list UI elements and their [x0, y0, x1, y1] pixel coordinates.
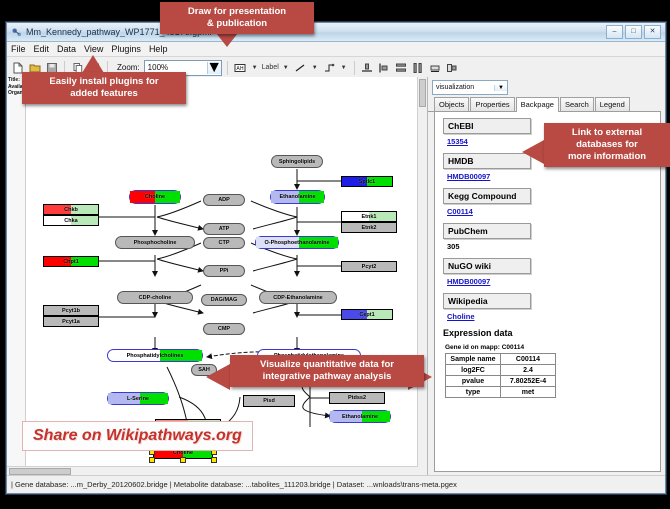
gene-node[interactable]: Chkb: [43, 204, 99, 215]
gene-node[interactable]: Chka: [43, 215, 99, 226]
chevron-down-icon[interactable]: ▼: [341, 65, 347, 71]
table-cell: met: [501, 387, 556, 398]
database-header-wikipedia: Wikipedia: [443, 293, 531, 309]
metabolite-node[interactable]: Sphingolipids: [271, 155, 323, 168]
metabolite-node[interactable]: ADP: [203, 194, 245, 206]
table-cell: log2FC: [446, 365, 501, 376]
metabolite-node[interactable]: Phosphocholine: [115, 236, 195, 249]
label-tool-icon[interactable]: Label: [262, 64, 279, 71]
database-header-hmdb: HMDB: [443, 153, 531, 169]
metabolite-node[interactable]: Phosphatidylcholines: [107, 349, 203, 362]
callout-arrow-left: [522, 140, 544, 164]
statusbar: | Gene database: ...m_Derby_20120602.bri…: [7, 475, 665, 493]
metabolite-node[interactable]: Choline: [129, 190, 181, 204]
metabolite-node[interactable]: L-Serine: [107, 392, 169, 405]
gene-node[interactable]: Chpt1: [43, 256, 99, 267]
callout-link-external-databases: Link to external databases for more info…: [544, 123, 670, 167]
tab-legend[interactable]: Legend: [595, 97, 630, 111]
app-icon: [11, 27, 22, 38]
chevron-down-icon[interactable]: ▼: [494, 85, 507, 91]
database-header-chebi: ChEBI: [443, 118, 531, 134]
connector-tool-icon[interactable]: [322, 60, 337, 75]
align-bottom-icon[interactable]: [360, 60, 375, 75]
share-label: Share on Wikipathways.org: [33, 427, 242, 444]
resize-handle[interactable]: [211, 457, 217, 463]
share-wikipathways-banner: Share on Wikipathways.org: [22, 421, 253, 451]
expression-data-heading: Expression data: [443, 328, 660, 338]
resize-handle[interactable]: [180, 457, 186, 463]
database-link-wikipedia[interactable]: Choline: [447, 312, 660, 321]
distribute-vertical-icon[interactable]: [394, 60, 409, 75]
table-cell: type: [446, 387, 501, 398]
table-row: type met: [446, 387, 556, 398]
group-icon[interactable]: [445, 60, 460, 75]
table-row: Sample name C00114: [446, 354, 556, 365]
align-left-icon[interactable]: [377, 60, 392, 75]
menu-help[interactable]: Help: [149, 44, 168, 54]
metabolite-node[interactable]: CDP-Ethanolamine: [259, 291, 337, 304]
gene-node[interactable]: Etnk2: [341, 222, 397, 233]
toolbar-separator: [227, 61, 228, 75]
screenshot-root: Mm_Kennedy_pathway_WP1771_45176.gpml – □…: [0, 0, 670, 509]
panel-tabs[interactable]: Objects Properties Backpage Search Legen…: [428, 97, 661, 112]
window-titlebar: Mm_Kennedy_pathway_WP1771_45176.gpml – □…: [7, 23, 665, 42]
database-header-pubchem: PubChem: [443, 223, 531, 239]
metabolite-node[interactable]: CDP-choline: [117, 291, 193, 304]
gene-node[interactable]: Pcyt1b: [43, 305, 99, 316]
zoom-value: 100%: [145, 63, 207, 72]
maximize-button[interactable]: □: [625, 25, 642, 39]
statusbar-text: | Gene database: ...m_Derby_20120602.bri…: [7, 480, 457, 489]
gene-node[interactable]: Ptdss2: [329, 392, 385, 404]
gene-node[interactable]: Pcyt1a: [43, 316, 99, 327]
metabolite-node[interactable]: DAG/MAG: [201, 294, 247, 306]
chevron-down-icon[interactable]: ▼: [312, 65, 318, 71]
minimize-button[interactable]: –: [606, 25, 623, 39]
metabolite-node[interactable]: PPi: [203, 265, 245, 277]
menubar[interactable]: File Edit Data View Plugins Help: [7, 42, 665, 57]
menu-data[interactable]: Data: [57, 44, 76, 54]
tab-objects[interactable]: Objects: [434, 97, 469, 111]
gene-node[interactable]: Pisd: [243, 395, 295, 407]
metabolite-node[interactable]: CMP: [203, 323, 245, 335]
table-row: log2FC 2.4: [446, 365, 556, 376]
gene-node[interactable]: Pcyt2: [341, 261, 397, 272]
gene-node[interactable]: Cept1: [341, 309, 393, 320]
database-link-kegg[interactable]: C00114: [447, 207, 660, 216]
window-controls[interactable]: – □ ✕: [606, 25, 661, 39]
stack-icon[interactable]: [428, 60, 443, 75]
table-cell: 7.80252E-4: [501, 376, 556, 387]
callout-easily-install-plugins: Easily install plugins for added feature…: [22, 72, 186, 104]
chevron-down-icon[interactable]: ▼: [283, 65, 289, 71]
text-tool-icon[interactable]: AH: [233, 60, 248, 75]
expression-table: Sample name C00114 log2FC 2.4 pvalue 7.8…: [445, 353, 556, 398]
svg-text:AH: AH: [237, 66, 244, 72]
table-row: pvalue 7.80252E-4: [446, 376, 556, 387]
callout-visualize-quantitative: Visualize quantitative data for integrat…: [230, 355, 424, 387]
tab-backpage[interactable]: Backpage: [516, 97, 559, 112]
chevron-down-icon[interactable]: ▼: [207, 62, 221, 74]
pathway-drawing[interactable]: Sphingolipids Choline Ethanolamine ADP A…: [7, 77, 427, 476]
callout-arrow-left: [206, 364, 230, 390]
gene-node[interactable]: Etnk1: [341, 211, 397, 222]
menu-view[interactable]: View: [84, 44, 103, 54]
tab-properties[interactable]: Properties: [470, 97, 514, 111]
chevron-down-icon[interactable]: ▼: [252, 65, 258, 71]
gene-node[interactable]: Sptlc1: [341, 176, 393, 187]
line-tool-icon[interactable]: [293, 60, 308, 75]
metabolite-node[interactable]: Ethanolamine: [329, 410, 391, 423]
menu-file[interactable]: File: [11, 44, 26, 54]
metabolite-node[interactable]: Ethanolamine: [270, 190, 325, 204]
callout-arrow-down: [216, 33, 238, 47]
visualization-combobox[interactable]: visualization ▼: [432, 80, 508, 95]
database-header-kegg: Kegg Compound: [443, 188, 531, 204]
table-cell: C00114: [501, 354, 556, 365]
database-header-nugo: NuGO wiki: [443, 258, 531, 274]
resize-handle[interactable]: [149, 457, 155, 463]
tab-search[interactable]: Search: [560, 97, 594, 111]
menu-plugins[interactable]: Plugins: [111, 44, 141, 54]
scrollbar-thumb[interactable]: [419, 79, 426, 107]
database-link-nugo[interactable]: HMDB00097: [447, 277, 660, 286]
callout-arrow-up: [82, 55, 104, 73]
toolbar-separator: [354, 61, 355, 75]
canvas-vertical-scrollbar[interactable]: [417, 77, 427, 476]
close-button[interactable]: ✕: [644, 25, 661, 39]
metabolite-node[interactable]: ATP: [203, 223, 245, 235]
scrollbar-thumb[interactable]: [9, 468, 71, 475]
database-value-pubchem: 305: [447, 242, 660, 251]
menu-edit[interactable]: Edit: [34, 44, 50, 54]
distribute-horizontal-icon[interactable]: [411, 60, 426, 75]
canvas-title-strip: Title: Availa Organi: [7, 77, 26, 476]
database-link-hmdb[interactable]: HMDB00097: [447, 172, 660, 181]
visualization-value: visualization: [433, 84, 494, 91]
metabolite-node[interactable]: O-Phosphoethanolamine: [255, 236, 339, 249]
metabolite-node[interactable]: CTP: [203, 237, 245, 249]
table-cell: 2.4: [501, 365, 556, 376]
table-cell: pvalue: [446, 376, 501, 387]
zoom-label: Zoom:: [117, 63, 140, 72]
pathway-canvas[interactable]: Sphingolipids Choline Ethanolamine ADP A…: [7, 77, 428, 476]
table-cell: Sample name: [446, 354, 501, 365]
gene-id-on-mapp: Gene id on mapp: C00114: [445, 344, 660, 351]
callout-draw-for-publication: Draw for presentation & publication: [160, 2, 314, 34]
